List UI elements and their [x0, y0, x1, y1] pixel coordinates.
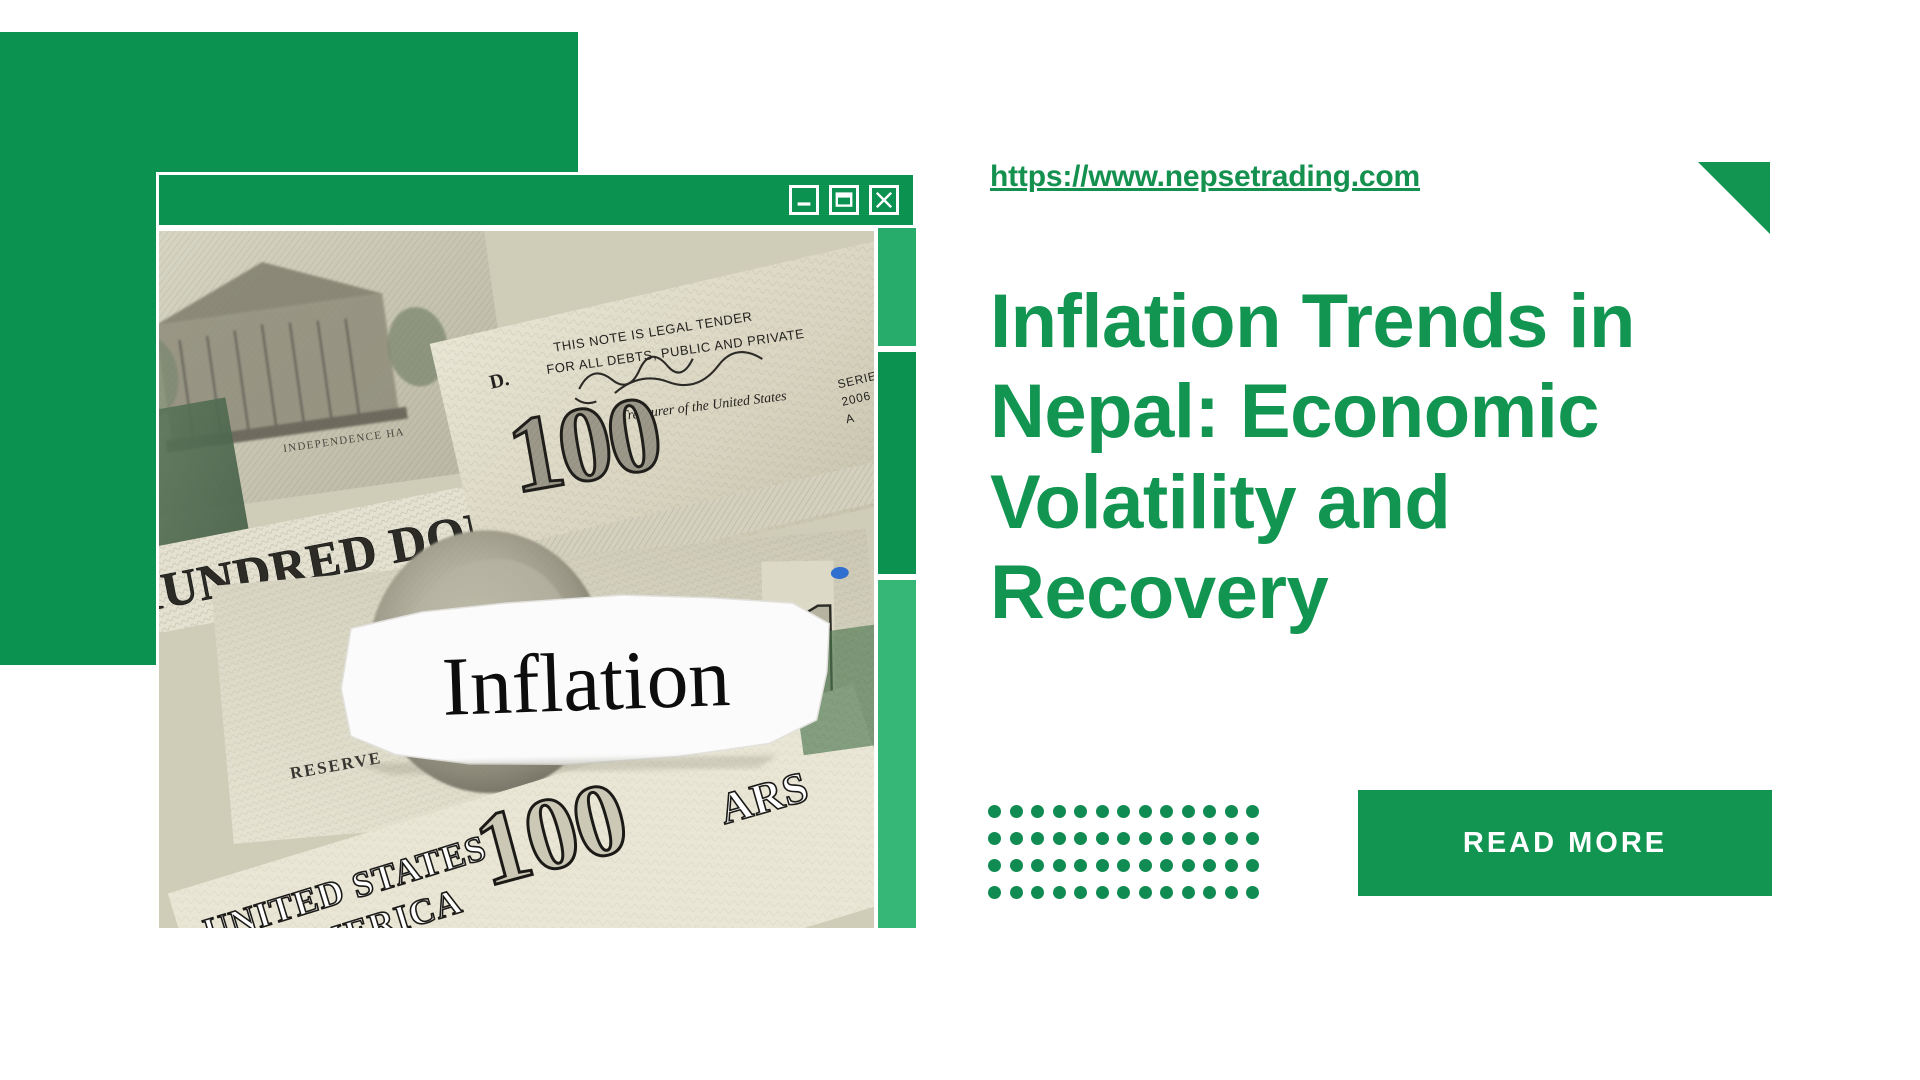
- dot: [1010, 886, 1023, 899]
- dot: [1182, 859, 1195, 872]
- dot: [1053, 859, 1066, 872]
- dot: [1203, 886, 1216, 899]
- dot: [1031, 886, 1044, 899]
- banner-canvas: INDEPENDENCE HA HUNDRED DOL: [0, 0, 1920, 1080]
- dot: [988, 859, 1001, 872]
- dot: [1160, 805, 1173, 818]
- dot: [1117, 859, 1130, 872]
- dot: [1246, 886, 1259, 899]
- dot: [1053, 832, 1066, 845]
- dot: [1225, 859, 1238, 872]
- dot: [1117, 805, 1130, 818]
- dot: [1096, 805, 1109, 818]
- app-window: INDEPENDENCE HA HUNDRED DOL: [156, 172, 916, 928]
- headline-line-4: Recovery: [990, 550, 1328, 635]
- maximize-icon[interactable]: [829, 185, 859, 215]
- dot: [1139, 805, 1152, 818]
- dot: [1225, 832, 1238, 845]
- dot: [1074, 886, 1087, 899]
- dot: [1031, 859, 1044, 872]
- dot: [1182, 805, 1195, 818]
- dot: [1139, 859, 1152, 872]
- dot: [988, 832, 1001, 845]
- dot: [1096, 886, 1109, 899]
- page-title: Inflation Trends in Nepal: Economic Vola…: [990, 277, 1780, 639]
- dot: [1182, 832, 1195, 845]
- minimize-icon[interactable]: [789, 185, 819, 215]
- dot: [1031, 805, 1044, 818]
- dot: [1160, 886, 1173, 899]
- dot: [1160, 832, 1173, 845]
- inflation-photo: INDEPENDENCE HA HUNDRED DOL: [156, 228, 874, 928]
- dot: [1117, 886, 1130, 899]
- headline-line-1: Inflation Trends in: [990, 279, 1635, 364]
- dot: [1203, 805, 1216, 818]
- dot: [1074, 859, 1087, 872]
- dot: [988, 886, 1001, 899]
- dot: [1096, 859, 1109, 872]
- dot-grid-decoration: [988, 798, 1268, 906]
- dot: [1139, 832, 1152, 845]
- dot: [1246, 859, 1259, 872]
- window-body: INDEPENDENCE HA HUNDRED DOL: [156, 228, 916, 928]
- dot: [1074, 805, 1087, 818]
- dot: [1139, 886, 1152, 899]
- dot: [1203, 832, 1216, 845]
- dot: [1010, 832, 1023, 845]
- dot: [1074, 832, 1087, 845]
- window-titlebar: [156, 172, 916, 228]
- dot: [1096, 832, 1109, 845]
- window-controls: [789, 185, 899, 215]
- rail-segment-middle: [878, 352, 916, 574]
- dot: [988, 805, 1001, 818]
- dot: [1031, 832, 1044, 845]
- dot: [1010, 859, 1023, 872]
- dot: [1053, 886, 1066, 899]
- dot: [1246, 805, 1259, 818]
- close-icon[interactable]: [869, 185, 899, 215]
- svg-text:Inflation: Inflation: [441, 631, 732, 734]
- dot: [1160, 859, 1173, 872]
- site-url-link[interactable]: https://www.nepsetrading.com: [990, 160, 1420, 194]
- dot: [1225, 886, 1238, 899]
- read-more-button[interactable]: READ MORE: [1358, 790, 1772, 896]
- dot: [1225, 805, 1238, 818]
- window-side-rail: [878, 228, 916, 928]
- headline-line-3: Volatility and: [990, 460, 1450, 545]
- dot: [1010, 805, 1023, 818]
- rail-segment-bottom: [878, 580, 916, 928]
- dot: [1117, 832, 1130, 845]
- content-column: https://www.nepsetrading.com Inflation T…: [990, 0, 1810, 1080]
- dot: [1053, 805, 1066, 818]
- dot: [1246, 832, 1259, 845]
- headline-line-2: Nepal: Economic: [990, 369, 1599, 454]
- dot: [1203, 859, 1216, 872]
- rail-segment-top: [878, 228, 916, 346]
- dot: [1182, 886, 1195, 899]
